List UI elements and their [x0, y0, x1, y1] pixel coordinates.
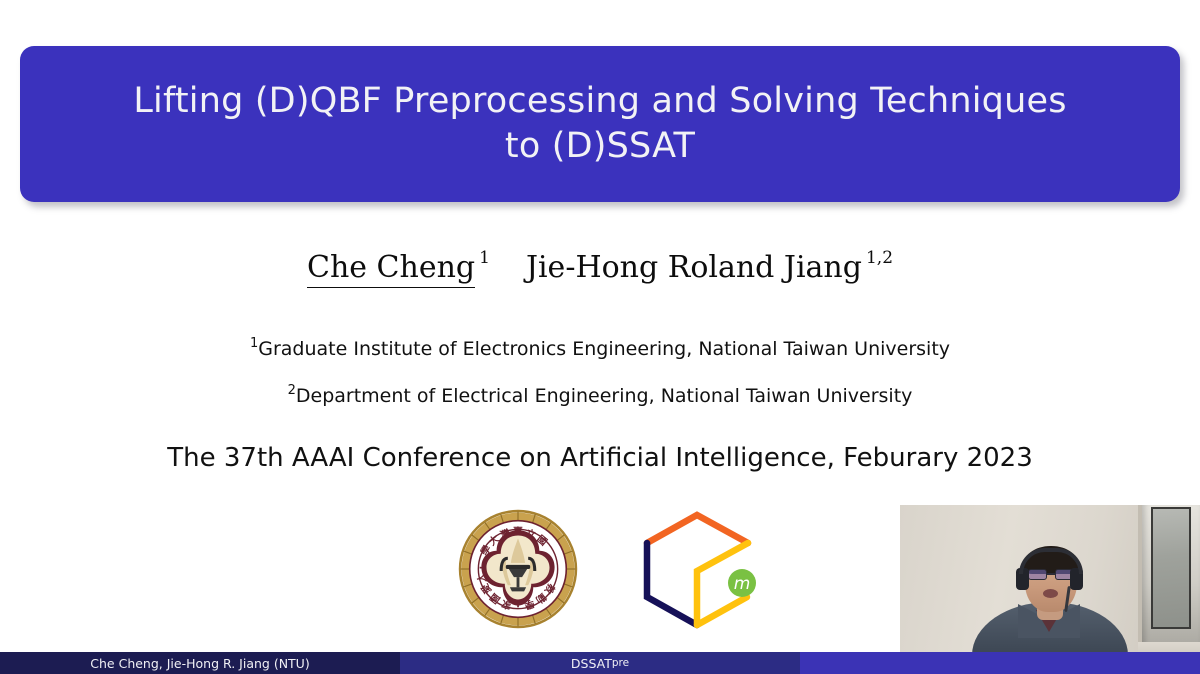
affiliation-text-2: Department of Electrical Engineering, Na… — [296, 385, 913, 407]
alcom-badge-letter: m — [734, 574, 751, 594]
affiliation-mark-2: 2 — [288, 383, 296, 398]
author-affiliation-mark-2: 1,2 — [866, 248, 893, 268]
affiliation-line-1: 1Graduate Institute of Electronics Engin… — [0, 336, 1200, 360]
slide-title-line-2: to (D)SSAT — [505, 124, 695, 170]
presenter-video-feed[interactable] — [900, 505, 1200, 674]
affiliation-mark-1: 1 — [250, 336, 258, 351]
slide-title-banner: Lifting (D)QBF Preprocessing and Solving… — [20, 46, 1180, 202]
alcom-hexagon-logo: m — [625, 505, 775, 635]
ntu-seal-logo: 學 大 灣 臺 立 國 教 勤 學 · 家 國 愛 人 · — [457, 508, 579, 630]
footer-title-sub: pre — [612, 657, 629, 669]
author-name-1: Che Cheng — [307, 250, 475, 288]
footer-title-segment: DSSATpre — [400, 652, 800, 674]
affiliation-line-2: 2Department of Electrical Engineering, N… — [0, 383, 1200, 407]
slide-title-line-1: Lifting (D)QBF Preprocessing and Solving… — [133, 79, 1066, 125]
author-name-2: Jie-Hong Roland Jiang — [526, 250, 862, 285]
author-list: Che Cheng1Jie-Hong Roland Jiang1,2 — [0, 248, 1200, 285]
author-entry-2: Jie-Hong Roland Jiang1,2 — [526, 248, 893, 285]
footer-author-segment: Che Cheng, Jie-Hong R. Jiang (NTU) — [0, 652, 400, 674]
footer-title-main: DSSAT — [571, 656, 612, 671]
logo-row: 學 大 灣 臺 立 國 教 勤 學 · 家 國 愛 人 · — [440, 500, 780, 640]
author-affiliation-mark-1: 1 — [479, 248, 490, 268]
video-window-pane — [1151, 507, 1191, 629]
footer-page-segment — [800, 652, 1200, 674]
presentation-slide: Lifting (D)QBF Preprocessing and Solving… — [0, 0, 1200, 674]
slide-footer: Che Cheng, Jie-Hong R. Jiang (NTU) DSSAT… — [0, 652, 1200, 674]
video-window — [1138, 505, 1200, 651]
presenter-mouth — [1043, 589, 1058, 598]
conference-line: The 37th AAAI Conference on Artificial I… — [0, 443, 1200, 473]
affiliation-text-1: Graduate Institute of Electronics Engine… — [258, 338, 950, 360]
author-entry-1: Che Cheng1 — [307, 248, 490, 285]
